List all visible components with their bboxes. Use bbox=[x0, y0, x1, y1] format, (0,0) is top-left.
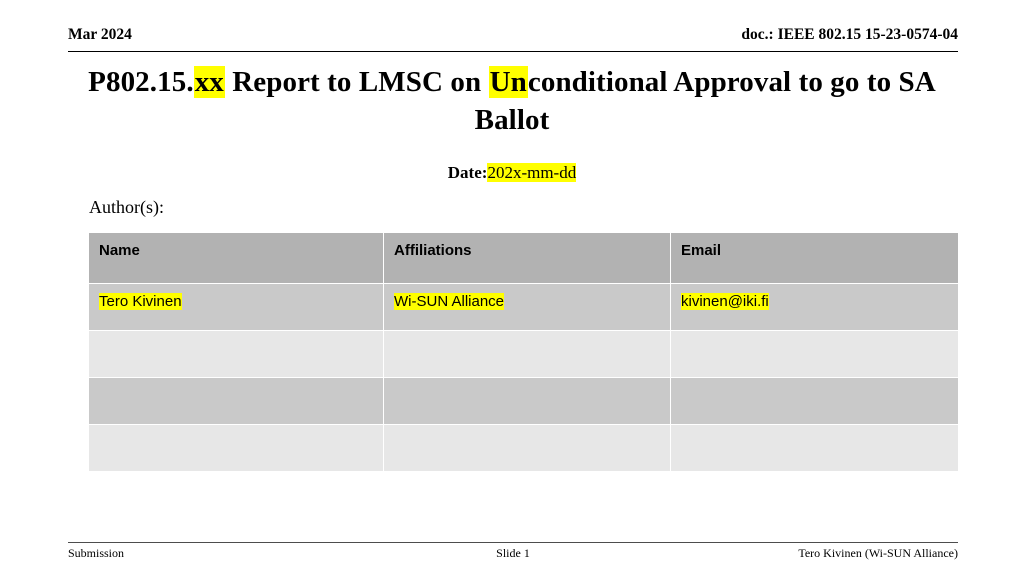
cell-affiliation[interactable]: Wi-SUN Alliance bbox=[384, 284, 671, 331]
column-header-name: Name bbox=[89, 233, 384, 284]
slide-footer: Submission Slide 1 Tero Kivinen (Wi-SUN … bbox=[68, 546, 958, 560]
cell-email[interactable] bbox=[671, 378, 959, 425]
cell-value-affiliation: Wi-SUN Alliance bbox=[394, 293, 504, 310]
table-row[interactable] bbox=[89, 331, 959, 378]
header-divider bbox=[68, 51, 958, 52]
title-part-3: conditional Approval to go to SA Ballot bbox=[475, 66, 936, 136]
cell-name[interactable] bbox=[89, 331, 384, 378]
table-row[interactable]: Tero Kivinen Wi-SUN Alliance kivinen@iki… bbox=[89, 284, 959, 331]
cell-affiliation[interactable] bbox=[384, 425, 671, 472]
table-row[interactable] bbox=[89, 378, 959, 425]
footer-submission: Submission bbox=[68, 546, 124, 560]
date-value: 202x-mm-dd bbox=[487, 163, 576, 182]
cell-name[interactable] bbox=[89, 425, 384, 472]
cell-value-email: kivinen@iki.fi bbox=[681, 293, 769, 310]
column-header-email: Email bbox=[671, 233, 959, 284]
cell-affiliation[interactable] bbox=[384, 331, 671, 378]
table-header-row: Name Affiliations Email bbox=[89, 233, 959, 284]
cell-affiliation[interactable] bbox=[384, 378, 671, 425]
page-title: P802.15.xx Report to LMSC on Uncondition… bbox=[72, 63, 952, 140]
cell-email[interactable] bbox=[671, 425, 959, 472]
title-highlight-un: Un bbox=[489, 66, 528, 98]
cell-value-name: Tero Kivinen bbox=[99, 293, 182, 310]
authors-label: Author(s): bbox=[89, 197, 164, 219]
title-highlight-xx: xx bbox=[194, 66, 225, 98]
slide-canvas: Mar 2024 doc.: IEEE 802.15 15-23-0574-04… bbox=[0, 0, 1024, 576]
header-date: Mar 2024 bbox=[68, 26, 132, 43]
header-doc-number: doc.: IEEE 802.15 15-23-0574-04 bbox=[741, 26, 958, 43]
footer-divider bbox=[68, 542, 958, 543]
cell-name[interactable] bbox=[89, 378, 384, 425]
cell-email[interactable]: kivinen@iki.fi bbox=[671, 284, 959, 331]
date-label: Date: bbox=[448, 163, 488, 182]
authors-table: Name Affiliations Email Tero Kivinen Wi-… bbox=[88, 232, 959, 472]
slide-header: Mar 2024 doc.: IEEE 802.15 15-23-0574-04 bbox=[68, 26, 958, 52]
cell-email[interactable] bbox=[671, 331, 959, 378]
title-part-1: P802.15. bbox=[88, 66, 194, 98]
footer-author: Tero Kivinen (Wi-SUN Alliance) bbox=[798, 546, 958, 560]
title-part-2: Report to LMSC on bbox=[225, 66, 489, 98]
cell-name[interactable]: Tero Kivinen bbox=[89, 284, 384, 331]
date-line: Date:202x-mm-dd bbox=[72, 163, 952, 183]
table-row[interactable] bbox=[89, 425, 959, 472]
column-header-affiliations: Affiliations bbox=[384, 233, 671, 284]
